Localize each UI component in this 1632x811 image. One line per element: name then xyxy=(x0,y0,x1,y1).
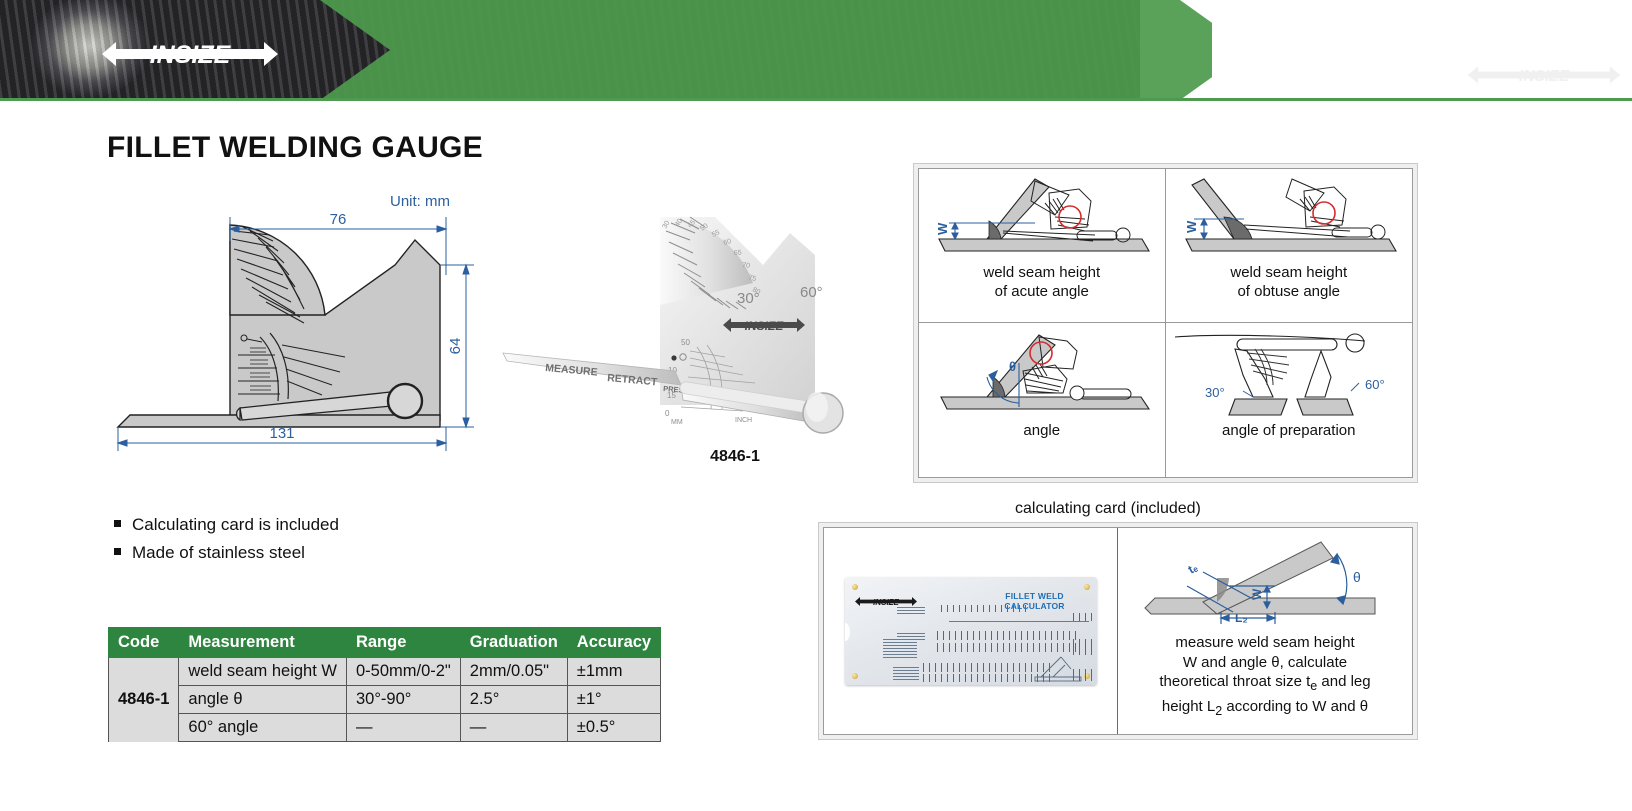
panel-symbol-w: W xyxy=(1184,220,1199,233)
calculating-card-caption: measure weld seam heightW and angle θ, c… xyxy=(1153,633,1376,721)
panel-caption-angle: angle xyxy=(1023,421,1060,440)
calculating-card-photo-cell: INSIZE FILLET WELD CALCULATOR xyxy=(824,528,1118,734)
cell-graduation: 2.5° xyxy=(460,686,567,714)
column-header-graduation: Graduation xyxy=(460,628,567,658)
diagram-label-throat: tₑ xyxy=(1186,560,1201,577)
scale-inch-label: INCH xyxy=(735,417,752,424)
card-tick-row xyxy=(941,605,1029,612)
cell-range: — xyxy=(346,714,460,742)
product-code-label: 4846-1 xyxy=(640,448,830,466)
cell-measurement: angle θ xyxy=(179,686,347,714)
diagram-label-angle: θ xyxy=(1353,569,1361,585)
cell-measurement: 60° angle xyxy=(179,714,347,742)
calculating-card-diagram-cell: tₑ θ W L₂ measure weld seam heightW and … xyxy=(1118,528,1412,734)
card-tick-row xyxy=(1073,613,1095,621)
panel-caption-obtuse: weld seam heightof obtuse angle xyxy=(1230,263,1347,301)
card-rivet-icon xyxy=(852,584,858,590)
card-text-block xyxy=(893,667,919,681)
product-insize-logo-text: INSIZE xyxy=(745,319,785,333)
dimension-bottom-value: 131 xyxy=(269,425,294,442)
calculating-card-label: calculating card (included) xyxy=(1015,500,1201,518)
card-insize-logo-text: INSIZE xyxy=(873,598,899,607)
scale-0-label: 0 xyxy=(665,409,670,418)
svg-text:70: 70 xyxy=(742,262,751,270)
application-panel-acute: W weld seam heightof acute angle xyxy=(919,169,1166,323)
column-header-measurement: Measurement xyxy=(179,628,347,658)
obtuse-angle-diagram: W xyxy=(1174,173,1404,261)
cell-range: 0-50mm/0-2" xyxy=(346,658,460,686)
card-notch xyxy=(845,623,850,641)
panel-caption-preparation: angle of preparation xyxy=(1222,421,1355,440)
scale-unit-label: MM xyxy=(671,419,683,426)
column-header-code: Code xyxy=(109,628,179,658)
angle-of-preparation-diagram: 30° 60° xyxy=(1169,327,1409,419)
list-item: Made of stainless steel xyxy=(112,540,339,565)
panel-symbol-30: 30° xyxy=(1205,385,1225,400)
gauge-outline xyxy=(118,225,440,427)
panel-symbol-w: W xyxy=(935,222,950,235)
card-text-block xyxy=(883,639,917,659)
datasheet-page: INSIZE INSIZE FILLET WELDING GAUGE Unit:… xyxy=(0,0,1632,811)
insize-logo-icon: INSIZE xyxy=(100,34,280,74)
svg-text:65: 65 xyxy=(734,249,742,257)
column-header-accuracy: Accuracy xyxy=(567,628,660,658)
angle-diagram: θ xyxy=(927,327,1157,419)
panel-caption-acute: weld seam heightof acute angle xyxy=(983,263,1100,301)
card-text-block xyxy=(897,633,925,642)
list-item: Calculating card is included xyxy=(112,512,339,537)
card-title-line1: FILLET WELD xyxy=(1005,591,1063,601)
calculating-card-photo: INSIZE FILLET WELD CALCULATOR xyxy=(845,577,1097,685)
table-row: angle θ 30°-90° 2.5° ±1° xyxy=(109,686,661,714)
panel-symbol-60: 60° xyxy=(1365,377,1385,392)
header-banner: INSIZE INSIZE xyxy=(0,0,1632,100)
cell-accuracy: ±0.5° xyxy=(567,714,660,742)
application-panel-angle: θ angle xyxy=(919,323,1166,477)
card-weld-diagram-icon xyxy=(1031,651,1087,685)
header-green-rule xyxy=(0,98,1632,101)
feature-list: Calculating card is included Made of sta… xyxy=(112,512,339,568)
dimension-top-value: 76 xyxy=(330,211,347,228)
product-angle-30-label: 30° xyxy=(737,290,760,307)
cell-graduation: 2mm/0.05" xyxy=(460,658,567,686)
application-panels: W weld seam heightof acute angle xyxy=(913,163,1418,483)
cell-accuracy: ±1mm xyxy=(567,658,660,686)
card-rivet-icon xyxy=(852,673,858,679)
insize-logo-text: INSIZE xyxy=(150,41,232,69)
scale-50-label: 50 xyxy=(681,338,690,347)
dimension-right-value: 64 xyxy=(447,338,464,355)
calculating-card-section: INSIZE FILLET WELD CALCULATOR xyxy=(818,522,1418,740)
diagram-label-leg: L₂ xyxy=(1235,611,1248,625)
application-panel-obtuse: W weld seam heightof obtuse angle xyxy=(1166,169,1413,323)
card-tick-row xyxy=(937,631,1077,640)
product-angle-60-label: 60° xyxy=(800,284,823,301)
dimension-drawing: 76 64 131 xyxy=(110,205,490,455)
panel-symbol-theta: θ xyxy=(1009,359,1016,374)
specification-table: Code Measurement Range Graduation Accura… xyxy=(108,627,661,742)
diagram-label-height: W xyxy=(1250,588,1264,600)
table-header-row: Code Measurement Range Graduation Accura… xyxy=(109,628,661,658)
insize-watermark-text: INSIZE xyxy=(1519,68,1570,85)
insize-watermark-icon: INSIZE xyxy=(1464,62,1624,88)
page-title: FILLET WELDING GAUGE xyxy=(107,131,483,165)
card-text-block xyxy=(897,607,925,616)
table-row: 60° angle — — ±0.5° xyxy=(109,714,661,742)
card-scale-line xyxy=(949,621,1089,622)
cell-range: 30°-90° xyxy=(346,686,460,714)
cell-graduation: — xyxy=(460,714,567,742)
acute-angle-diagram: W xyxy=(927,173,1157,261)
throat-calculation-diagram: tₑ θ W L₂ xyxy=(1125,528,1405,633)
cell-measurement: weld seam height W xyxy=(179,658,347,686)
card-rivet-icon xyxy=(1084,584,1090,590)
application-panel-preparation: 30° 60° angle of preparation xyxy=(1166,323,1413,477)
column-header-range: Range xyxy=(346,628,460,658)
gauge-plate xyxy=(660,217,815,405)
table-row: 4846-1 weld seam height W 0-50mm/0-2" 2m… xyxy=(109,658,661,686)
cell-code: 4846-1 xyxy=(109,658,179,742)
product-photo: 30 40 45 50 55 60 65 70 75 80 30° 60° IN… xyxy=(485,195,875,440)
cell-accuracy: ±1° xyxy=(567,686,660,714)
